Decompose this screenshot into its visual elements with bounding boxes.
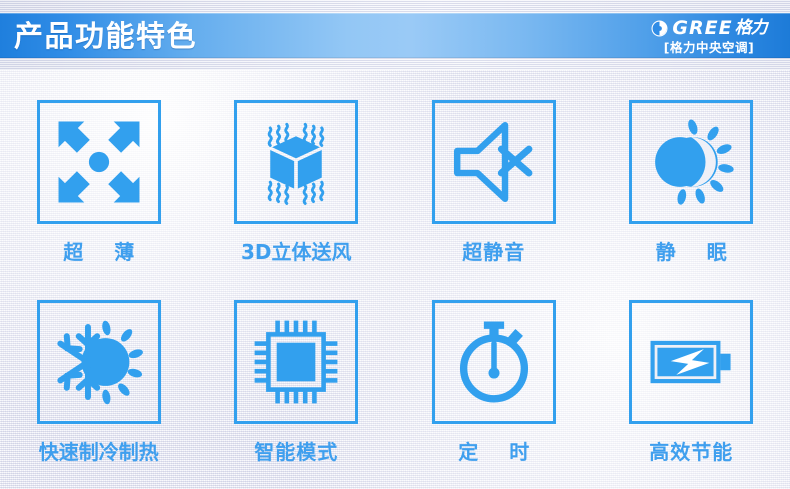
logo-brand-cn-text: 格力 [735, 19, 767, 38]
icon-frame [234, 300, 358, 424]
page-header: 产品功能特色 GREE 格力 [格力中央空调] [0, 0, 790, 70]
feature-cell-fast-cool-heat: 快速制冷制热 [0, 278, 198, 478]
product-feature-poster: 产品功能特色 GREE 格力 [格力中央空调] [0, 0, 790, 489]
logo-subtitle: [格力中央空调] [664, 41, 754, 55]
page-title: 产品功能特色 [14, 14, 197, 58]
feature-label-fast-cool-heat: 快速制冷制热 [39, 436, 159, 465]
feature-cell-energy-saving: 高效节能 [593, 278, 790, 478]
gree-swirl-icon [651, 20, 668, 37]
header-bottom-texture-strip [0, 58, 790, 70]
feature-grid: 超 薄 [0, 78, 790, 478]
sun-moon-icon [645, 116, 737, 208]
feature-cell-ultra-quiet: 超静音 [395, 78, 593, 278]
feature-cell-timer: 定 时 [395, 278, 593, 478]
feature-label-sleep-mode: 静 眠 [644, 236, 739, 265]
3d-cube-airflow-icon [250, 116, 342, 208]
feature-label-3d-airflow: 3D立体送风 [241, 236, 352, 265]
logo-brand-text: GREE [672, 19, 732, 38]
logo-primary-row: GREE 格力 [651, 18, 766, 40]
feature-cell-smart-mode: 智能模式 [198, 278, 396, 478]
icon-frame [432, 300, 556, 424]
feature-cell-sleep-mode: 静 眠 [593, 78, 790, 278]
icon-frame [37, 300, 161, 424]
battery-bolt-icon [645, 316, 737, 408]
icon-frame [629, 300, 753, 424]
feature-label-smart-mode: 智能模式 [254, 436, 338, 465]
stopwatch-icon [448, 316, 540, 408]
feature-label-ultra-quiet: 超静音 [462, 236, 525, 265]
header-top-texture-strip [0, 0, 790, 13]
snowflake-sun-icon [53, 316, 145, 408]
mute-speaker-icon [448, 116, 540, 208]
icon-frame [37, 100, 161, 224]
expand-arrows-icon [53, 116, 145, 208]
gree-logo: GREE 格力 [格力中央空调] [636, 14, 782, 58]
feature-label-timer: 定 时 [446, 436, 541, 465]
feature-label-ultra-thin: 超 薄 [51, 236, 146, 265]
feature-label-energy-saving: 高效节能 [649, 436, 733, 465]
cpu-chip-icon [250, 316, 342, 408]
feature-cell-ultra-thin: 超 薄 [0, 78, 198, 278]
icon-frame [234, 100, 358, 224]
icon-frame [629, 100, 753, 224]
icon-frame [432, 100, 556, 224]
feature-cell-3d-airflow: 3D立体送风 [198, 78, 396, 278]
